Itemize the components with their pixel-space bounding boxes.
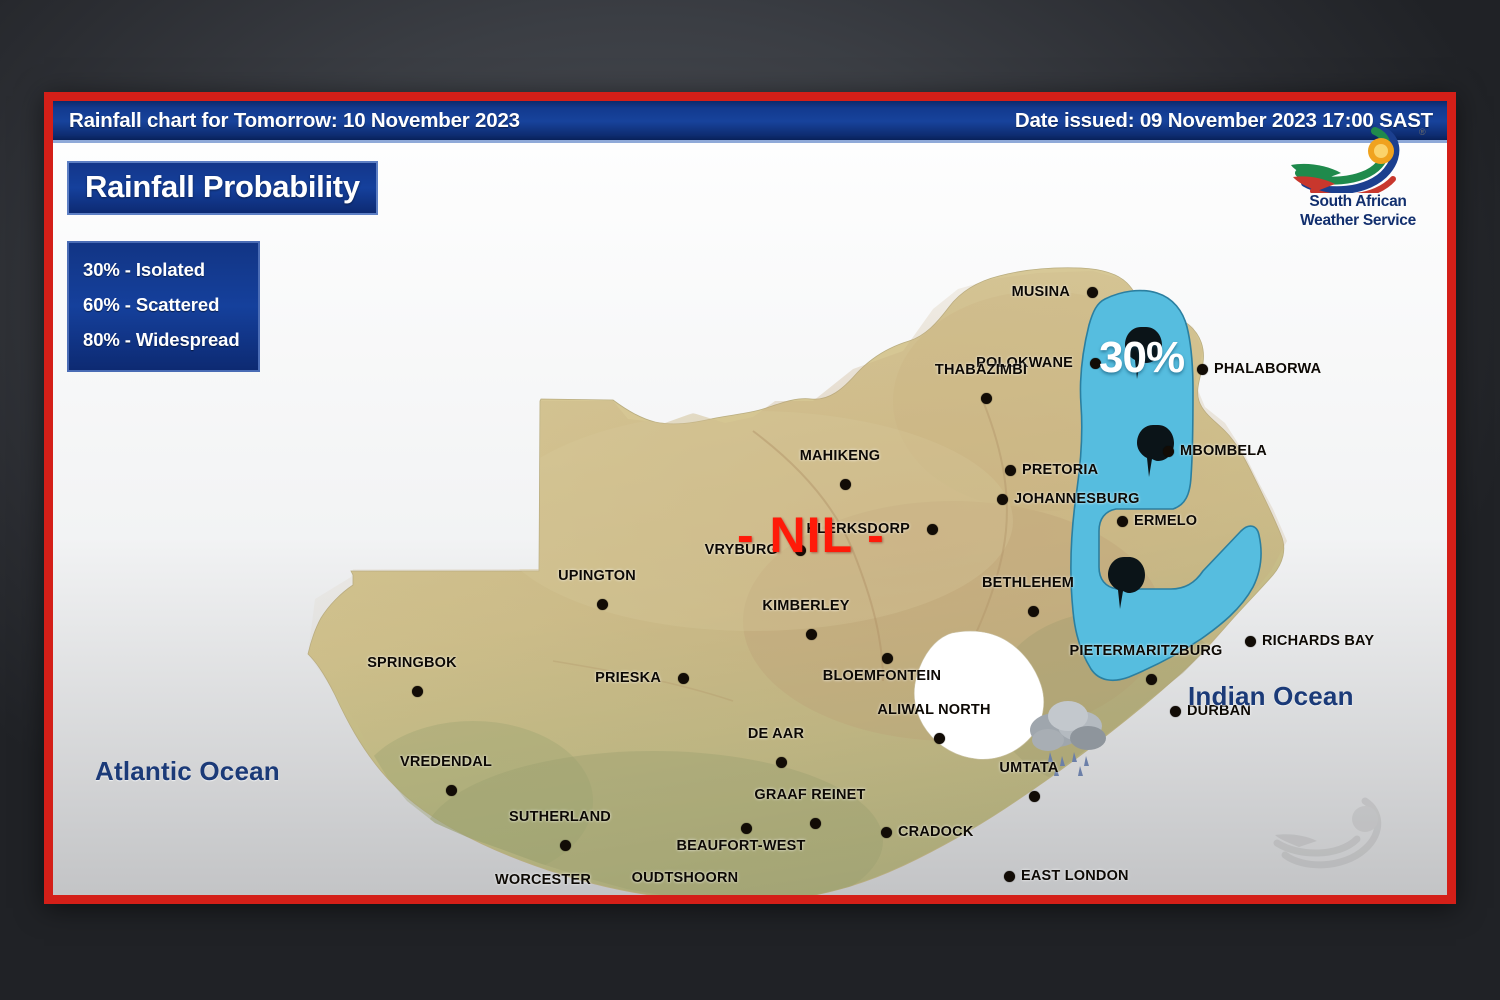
city-label: SPRINGBOK [367,655,457,671]
city-label: ALIWAL NORTH [877,702,990,718]
city-label: UMTATA [999,760,1058,776]
logo-line-2: Weather Service [1283,212,1433,230]
city-label: UPINGTON [558,568,636,584]
nil-label: - NIL - [737,506,885,564]
city-label: JOHANNESBURG [1014,491,1140,507]
city-label: MBOMBELA [1180,443,1267,459]
city-dot [1197,364,1208,375]
screen: MUSINAPOLOKWANEPHALABORWATHABAZIMBIMBOMB… [0,0,1500,1000]
city-label: THABAZIMBI [935,362,1027,378]
city-dot [1146,674,1157,685]
rainfall-chart-card: MUSINAPOLOKWANEPHALABORWATHABAZIMBIMBOMB… [44,92,1456,904]
city-dot [881,827,892,838]
city-label: PRIESKA [595,670,661,686]
city-label: VREDENDAL [400,754,492,770]
city-dot [597,599,608,610]
legend-item-widespread: 80% - Widespread [83,323,240,358]
logo-line-1: South African [1283,193,1433,211]
saws-watermark-icon [1269,783,1409,873]
city-label: WORCESTER [495,872,591,888]
city-label: BLOEMFONTEIN [823,668,941,684]
saws-logo: ® South African Weather Service [1283,121,1433,230]
legend-box: 30% - Isolated 60% - Scattered 80% - Wid… [67,241,260,372]
city-label: SUTHERLAND [509,809,611,825]
city-dot [446,785,457,796]
legend-item-isolated: 30% - Isolated [83,253,240,288]
city-label: GRAAF REINET [754,787,865,803]
city-dot [806,629,817,640]
city-dot [840,479,851,490]
city-label: RICHARDS BAY [1262,633,1374,649]
city-label: CRADOCK [898,824,974,840]
legend-title: Rainfall Probability [67,161,378,215]
city-label: MUSINA [1012,284,1070,300]
city-dot [1005,465,1016,476]
chart-title-left: Rainfall chart for Tomorrow: 10 November… [69,109,520,133]
city-dot [1028,606,1039,617]
city-label: DE AAR [748,726,804,742]
city-label: ERMELO [1134,513,1197,529]
city-dot [741,823,752,834]
city-dot [882,653,893,664]
title-bar: Rainfall chart for Tomorrow: 10 November… [53,101,1447,143]
city-dot [412,686,423,697]
city-dot [1004,871,1015,882]
city-dot [1163,446,1174,457]
atlantic-ocean-label: Atlantic Ocean [95,756,280,787]
city-label: PHALABORWA [1214,361,1321,377]
city-dot [1029,791,1040,802]
legend-item-scattered: 60% - Scattered [83,288,240,323]
map-canvas: MUSINAPOLOKWANEPHALABORWATHABAZIMBIMBOMB… [53,101,1447,895]
city-label: BETHLEHEM [982,575,1074,591]
city-dot [981,393,992,404]
registered-mark: ® [1419,127,1426,137]
city-label: OUDTSHOORN [632,870,739,886]
city-dot [776,757,787,768]
saws-logo-icon: ® [1283,121,1433,193]
city-dot [678,673,689,684]
rain-percent-label: 30% [1099,333,1184,383]
city-dot [1170,706,1181,717]
city-label: KIMBERLEY [762,598,849,614]
city-dot [934,733,945,744]
city-dot [560,840,571,851]
city-dot [997,494,1008,505]
card-inner: MUSINAPOLOKWANEPHALABORWATHABAZIMBIMBOMB… [53,101,1447,895]
city-dot [927,524,938,535]
city-dot [1245,636,1256,647]
city-dot [810,818,821,829]
city-label: MAHIKENG [800,448,881,464]
city-dot [1087,287,1098,298]
city-label: EAST LONDON [1021,868,1129,884]
city-label: BEAUFORT-WEST [676,838,805,854]
indian-ocean-label: Indian Ocean [1188,681,1354,712]
city-dot [1117,516,1128,527]
city-label: PIETERMARITZBURG [1069,643,1222,659]
city-label: PRETORIA [1022,462,1098,478]
